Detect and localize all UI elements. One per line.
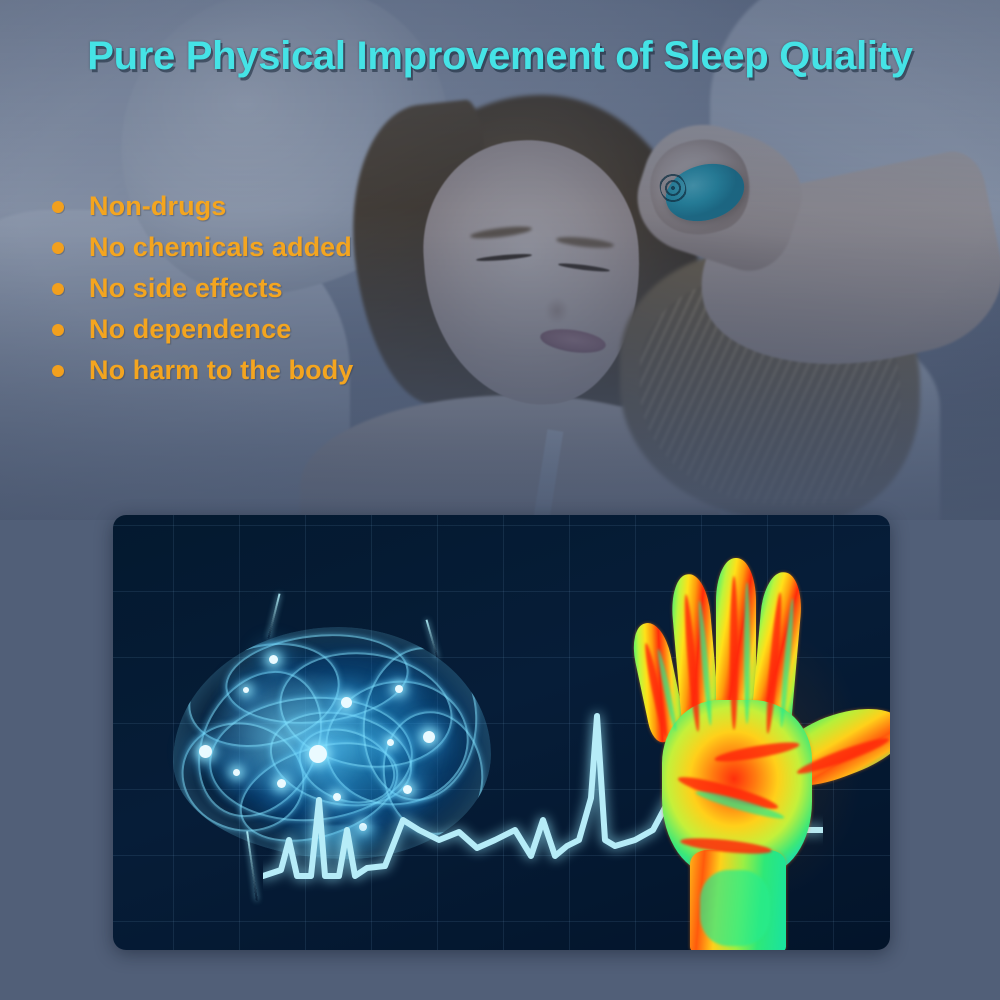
thermal-hand-graphic — [618, 550, 890, 950]
benefit-label: No side effects — [89, 273, 283, 304]
benefit-label: Non-drugs — [89, 191, 226, 222]
bullet-dot-icon — [52, 365, 64, 377]
list-item: No chemicals added — [52, 227, 353, 268]
list-item: No dependence — [52, 309, 353, 350]
benefit-label: No dependence — [89, 314, 291, 345]
list-item: Non-drugs — [52, 186, 353, 227]
benefit-label: No chemicals added — [89, 232, 352, 263]
product-infographic: Pure Physical Improvement of Sleep Quali… — [0, 0, 1000, 1000]
list-item: No side effects — [52, 268, 353, 309]
benefits-list: Non-drugs No chemicals added No side eff… — [52, 186, 353, 391]
benefit-label: No harm to the body — [89, 355, 353, 386]
bullet-dot-icon — [52, 242, 64, 254]
tech-illustration-panel — [113, 515, 890, 950]
bullet-dot-icon — [52, 201, 64, 213]
page-title: Pure Physical Improvement of Sleep Quali… — [0, 34, 1000, 79]
bullet-dot-icon — [52, 324, 64, 336]
bullet-dot-icon — [52, 283, 64, 295]
list-item: No harm to the body — [52, 350, 353, 391]
